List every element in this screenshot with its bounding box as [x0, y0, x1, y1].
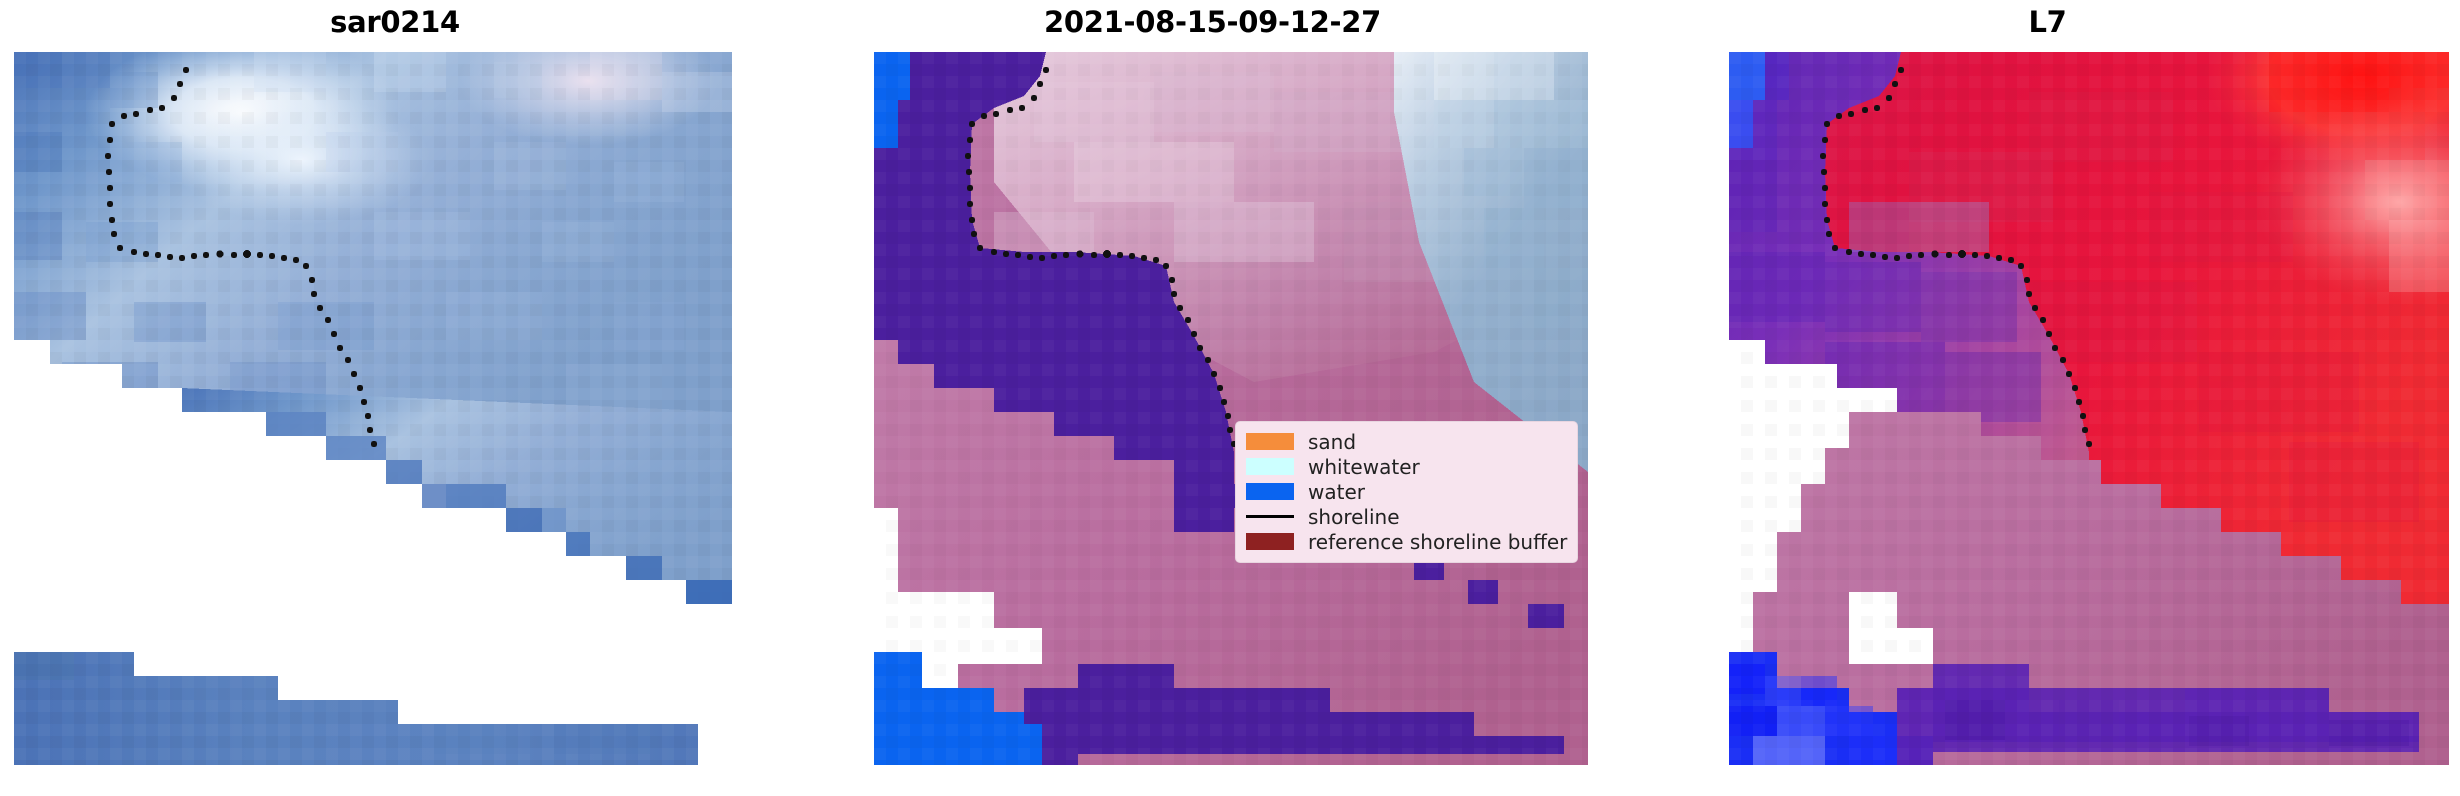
raster-sar0214: [14, 52, 732, 765]
axes-sar0214: [14, 52, 732, 765]
shoreline-line-icon: [1246, 508, 1294, 525]
axes-l7: [1729, 52, 2449, 765]
legend-label-whitewater: whitewater: [1308, 456, 1420, 478]
figure-canvas: sar0214: [0, 0, 2460, 796]
legend-label-water: water: [1308, 481, 1365, 503]
panel-2021-08-15-09-12-27: 2021-08-15-09-12-27: [790, 0, 1635, 796]
sand-swatch-icon: [1246, 433, 1294, 450]
legend-item-sand: sand: [1246, 429, 1567, 454]
raster-datetime: [874, 52, 1588, 765]
panel-sar0214: sar0214: [0, 0, 790, 796]
panel-title-sar: sar0214: [0, 5, 790, 39]
legend-item-reference-shoreline-buffer: reference shoreline buffer: [1246, 529, 1567, 554]
water-swatch-icon: [1246, 483, 1294, 500]
panel-l7: L7: [1635, 0, 2460, 796]
axes-datetime: [874, 52, 1588, 765]
legend-label-shoreline: shoreline: [1308, 506, 1400, 528]
panel-title-datetime: 2021-08-15-09-12-27: [790, 5, 1635, 39]
whitewater-swatch-icon: [1246, 458, 1294, 475]
panel-title-l7: L7: [1635, 5, 2460, 39]
legend-label-reference-shoreline-buffer: reference shoreline buffer: [1308, 531, 1567, 553]
legend-item-water: water: [1246, 479, 1567, 504]
raster-l7: [1729, 52, 2449, 765]
legend-item-shoreline: shoreline: [1246, 504, 1567, 529]
legend-item-whitewater: whitewater: [1246, 454, 1567, 479]
legend: sand whitewater water shoreline referenc…: [1235, 421, 1578, 563]
legend-label-sand: sand: [1308, 431, 1356, 453]
reference-shoreline-buffer-swatch-icon: [1246, 533, 1294, 550]
